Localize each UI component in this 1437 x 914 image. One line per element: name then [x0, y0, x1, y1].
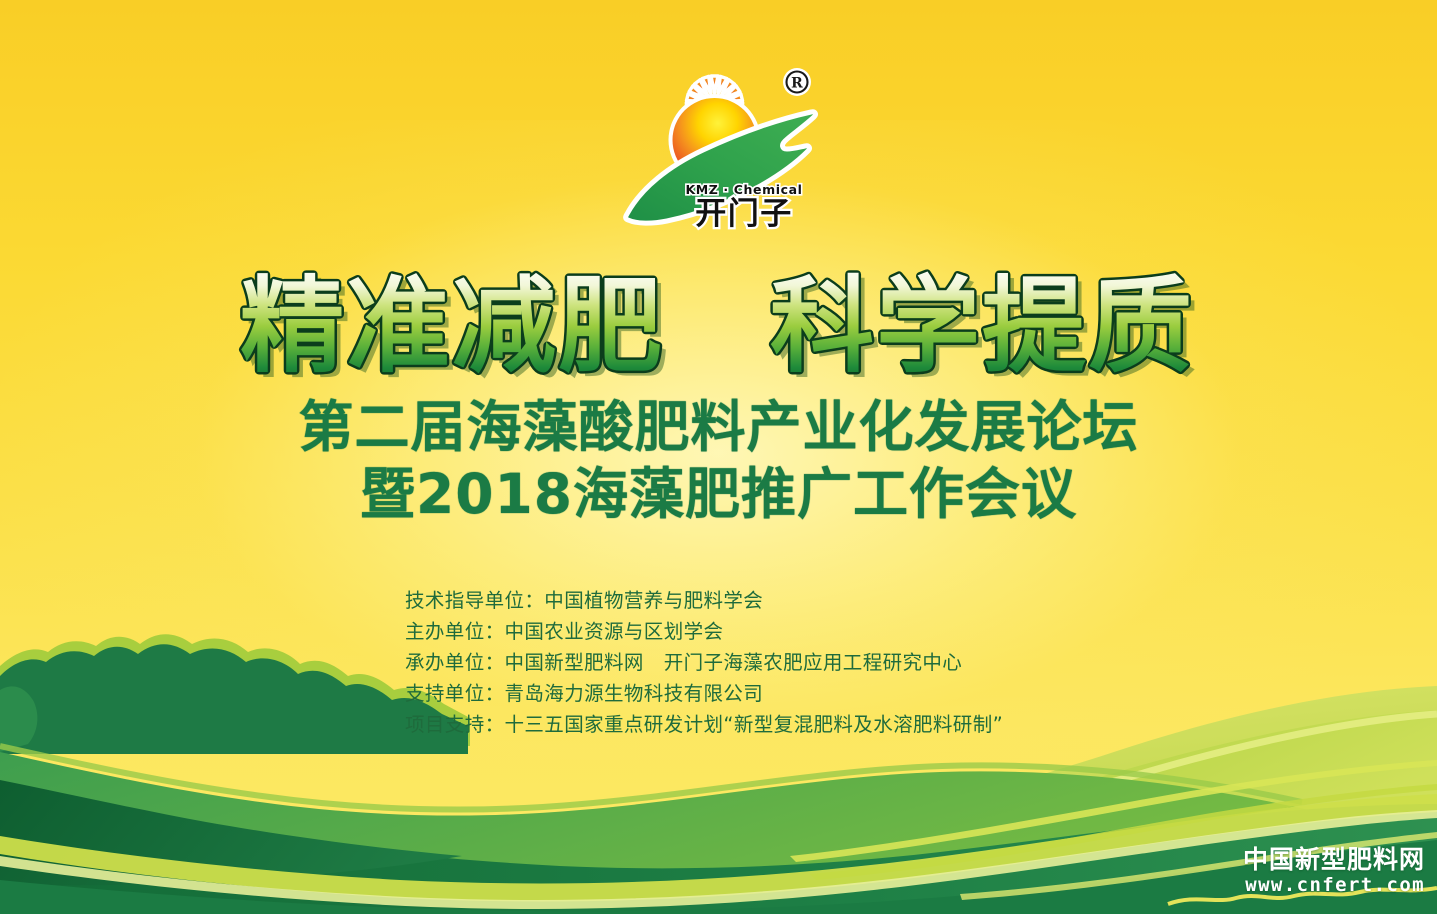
organizer-line-project-support: 项目支持：十三五国家重点研发计划“新型复混肥料及水溶肥料研制”: [405, 709, 1125, 740]
kaimenzi-chemical-logo: R KMZ · Chemical 开门子: [619, 62, 839, 247]
brand-latin-text: KMZ · Chemical: [685, 182, 802, 197]
brand-lockup: KMZ · Chemical 开门子: [685, 182, 802, 232]
subtitle-line-2: 暨2018海藻肥推广工作会议: [0, 465, 1437, 524]
mountain-body: [0, 644, 468, 754]
subtitle-block: 第二届海藻酸肥料产业化发展论坛 暨2018海藻肥推广工作会议: [0, 398, 1437, 525]
watermark-url: www.cnfert.com: [1243, 876, 1425, 896]
registered-trademark-icon: R: [783, 68, 811, 96]
organizer-block: 技术指导单位：中国植物营养与肥料学会 主办单位：中国农业资源与区划学会 承办单位…: [405, 585, 1125, 740]
conference-poster: R KMZ · Chemical 开门子: [0, 0, 1437, 914]
organizer-line-host: 主办单位：中国农业资源与区划学会: [405, 616, 1125, 647]
svg-text:R: R: [791, 76, 803, 92]
watermark-site-name: 中国新型肥料网: [1243, 847, 1425, 873]
site-watermark: 中国新型肥料网 www.cnfert.com: [1243, 847, 1425, 896]
headline: 精准减肥 科学提质 精准减肥 科学提质: [0, 266, 1437, 392]
organizer-line-technical-guidance: 技术指导单位：中国植物营养与肥料学会: [405, 585, 1125, 616]
headline-text: 精准减肥 科学提质: [239, 266, 1193, 387]
subtitle-line-1: 第二届海藻酸肥料产业化发展论坛: [0, 398, 1437, 457]
brand-cn-text: 开门子: [695, 196, 793, 232]
organizer-line-organizer: 承办单位：中国新型肥料网 开门子海藻农肥应用工程研究中心: [405, 647, 1125, 678]
organizer-line-support: 支持单位：青岛海力源生物科技有限公司: [405, 678, 1125, 709]
